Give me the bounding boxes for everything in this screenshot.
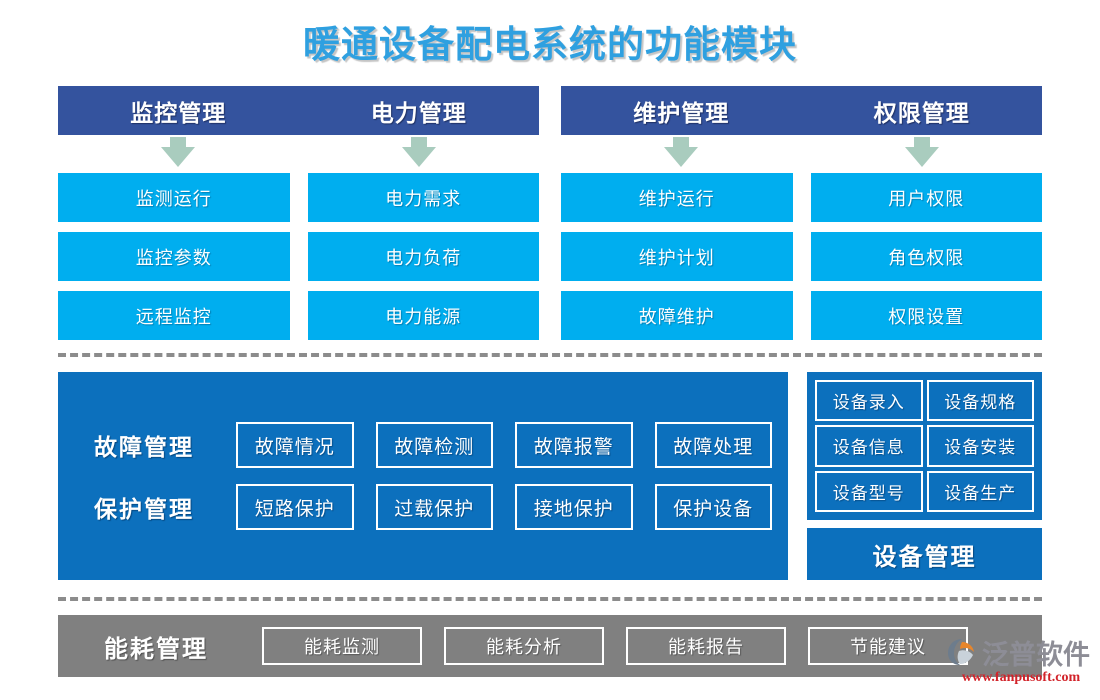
module-item[interactable]: 监测运行 bbox=[58, 173, 290, 222]
energy-item[interactable]: 节能建议 bbox=[808, 627, 968, 665]
device-grid-row: 设备信息 设备安装 bbox=[815, 425, 1034, 466]
device-item[interactable]: 设备规格 bbox=[927, 380, 1035, 421]
protection-management-label: 保护管理 bbox=[74, 490, 214, 524]
module-column-permission: 用户权限 角色权限 权限设置 bbox=[811, 173, 1043, 340]
device-grid-row: 设备录入 设备规格 bbox=[815, 380, 1034, 421]
protection-row: 保护管理 短路保护 过载保护 接地保护 保护设备 bbox=[74, 476, 772, 538]
protection-item[interactable]: 接地保护 bbox=[515, 484, 633, 530]
fault-row: 故障管理 故障情况 故障检测 故障报警 故障处理 bbox=[74, 414, 772, 476]
page-title: 暖通设备配电系统的功能模块 bbox=[0, 0, 1100, 70]
device-grid: 设备录入 设备规格 设备信息 设备安装 设备型号 设备生产 bbox=[807, 372, 1042, 520]
top-modules-area: 监控管理 电力管理 维护管理 权限管理 bbox=[58, 86, 1042, 340]
device-management-panel: 设备录入 设备规格 设备信息 设备安装 设备型号 设备生产 设备管理 bbox=[807, 372, 1042, 580]
arrow-row bbox=[58, 137, 1042, 173]
module-item[interactable]: 监控参数 bbox=[58, 232, 290, 281]
down-arrow-icon bbox=[161, 137, 195, 167]
logo-row: 泛普软件 bbox=[946, 632, 1096, 672]
module-header-power[interactable]: 电力管理 bbox=[299, 94, 540, 128]
protection-item[interactable]: 过载保护 bbox=[376, 484, 494, 530]
module-items-row: 监测运行 监控参数 远程监控 电力需求 电力负荷 电力能源 维护运行 维护计划 … bbox=[58, 173, 1042, 340]
protection-item[interactable]: 短路保护 bbox=[236, 484, 354, 530]
device-item[interactable]: 设备录入 bbox=[815, 380, 923, 421]
brand-logo: 泛普软件 www.fanpusoft.com bbox=[946, 632, 1096, 694]
module-header-monitoring[interactable]: 监控管理 bbox=[58, 94, 299, 128]
module-item[interactable]: 电力负荷 bbox=[308, 232, 540, 281]
down-arrow-icon bbox=[402, 137, 436, 167]
divider-top bbox=[58, 353, 1042, 357]
module-column-monitoring: 监测运行 监控参数 远程监控 bbox=[58, 173, 290, 340]
device-item[interactable]: 设备生产 bbox=[927, 471, 1035, 512]
fault-item[interactable]: 故障检测 bbox=[376, 422, 494, 468]
arrow-cell-2 bbox=[299, 137, 540, 167]
header-bar-right: 维护管理 权限管理 bbox=[561, 86, 1042, 135]
arrow-group-right bbox=[561, 137, 1042, 173]
arrow-cell-4 bbox=[802, 137, 1043, 167]
down-arrow-icon bbox=[905, 137, 939, 167]
arrow-cell-1 bbox=[58, 137, 299, 167]
energy-item[interactable]: 能耗监测 bbox=[262, 627, 422, 665]
arrow-group-left bbox=[58, 137, 539, 173]
arrow-cell-3 bbox=[561, 137, 802, 167]
energy-item[interactable]: 能耗分析 bbox=[444, 627, 604, 665]
fault-item[interactable]: 故障报警 bbox=[515, 422, 633, 468]
module-header-maintenance[interactable]: 维护管理 bbox=[561, 94, 802, 128]
module-header-row: 监控管理 电力管理 维护管理 权限管理 bbox=[58, 86, 1042, 135]
module-column-maintenance: 维护运行 维护计划 故障维护 bbox=[561, 173, 793, 340]
fault-management-label: 故障管理 bbox=[74, 428, 214, 462]
module-item[interactable]: 电力需求 bbox=[308, 173, 540, 222]
module-item[interactable]: 用户权限 bbox=[811, 173, 1043, 222]
module-item[interactable]: 远程监控 bbox=[58, 291, 290, 340]
module-item[interactable]: 权限设置 bbox=[811, 291, 1043, 340]
fanpu-logo-icon bbox=[946, 636, 980, 668]
module-item[interactable]: 角色权限 bbox=[811, 232, 1043, 281]
logo-name: 泛普软件 bbox=[982, 633, 1090, 672]
fault-item[interactable]: 故障情况 bbox=[236, 422, 354, 468]
middle-section: 故障管理 故障情况 故障检测 故障报警 故障处理 保护管理 短路保护 过载保护 … bbox=[58, 372, 1042, 580]
device-item[interactable]: 设备型号 bbox=[815, 471, 923, 512]
protection-item[interactable]: 保护设备 bbox=[655, 484, 773, 530]
energy-management-bar: 能耗管理 能耗监测 能耗分析 能耗报告 节能建议 bbox=[58, 615, 1042, 677]
module-item[interactable]: 维护运行 bbox=[561, 173, 793, 222]
energy-item[interactable]: 能耗报告 bbox=[626, 627, 786, 665]
device-item[interactable]: 设备信息 bbox=[815, 425, 923, 466]
module-item[interactable]: 故障维护 bbox=[561, 291, 793, 340]
divider-bottom bbox=[58, 597, 1042, 601]
device-grid-row: 设备型号 设备生产 bbox=[815, 471, 1034, 512]
down-arrow-icon bbox=[664, 137, 698, 167]
fault-item[interactable]: 故障处理 bbox=[655, 422, 773, 468]
fault-protection-panel: 故障管理 故障情况 故障检测 故障报警 故障处理 保护管理 短路保护 过载保护 … bbox=[58, 372, 788, 580]
logo-url: www.fanpusoft.com bbox=[946, 670, 1096, 686]
device-item[interactable]: 设备安装 bbox=[927, 425, 1035, 466]
module-header-permission[interactable]: 权限管理 bbox=[802, 94, 1043, 128]
module-item[interactable]: 维护计划 bbox=[561, 232, 793, 281]
header-bar-left: 监控管理 电力管理 bbox=[58, 86, 539, 135]
device-management-title: 设备管理 bbox=[807, 528, 1042, 580]
module-item[interactable]: 电力能源 bbox=[308, 291, 540, 340]
module-column-power: 电力需求 电力负荷 电力能源 bbox=[308, 173, 540, 340]
energy-management-label: 能耗管理 bbox=[72, 629, 240, 664]
module-column-group-left: 监测运行 监控参数 远程监控 电力需求 电力负荷 电力能源 bbox=[58, 173, 539, 340]
module-column-group-right: 维护运行 维护计划 故障维护 用户权限 角色权限 权限设置 bbox=[561, 173, 1042, 340]
